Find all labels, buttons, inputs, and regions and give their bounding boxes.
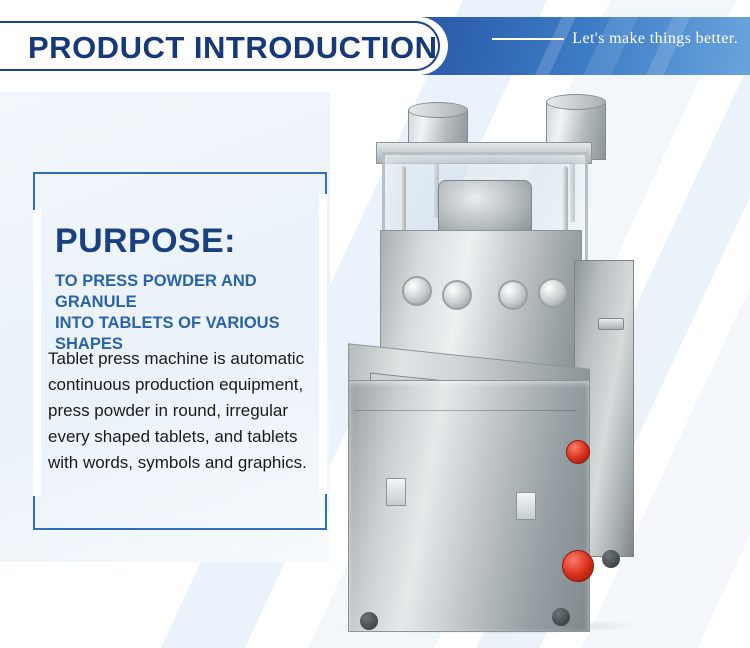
header: PRODUCT INTRODUCTION Let's make things b… bbox=[0, 0, 750, 92]
hopper-left-rim bbox=[408, 102, 468, 118]
gauge-1 bbox=[402, 276, 432, 306]
purpose-subheading: TO PRESS POWDER AND GRANULE INTO TABLETS… bbox=[55, 271, 323, 355]
red-valve-handle[interactable] bbox=[562, 550, 594, 582]
purpose-heading: PURPOSE: bbox=[55, 222, 236, 261]
base-panel-seam bbox=[354, 410, 576, 411]
slogan-dash-icon bbox=[492, 38, 564, 40]
gauge-3 bbox=[498, 280, 528, 310]
page-title: PRODUCT INTRODUCTION bbox=[28, 30, 438, 66]
cabinet-door-handle[interactable] bbox=[598, 318, 624, 330]
product-introduction-banner: PRODUCT INTRODUCTION Let's make things b… bbox=[0, 0, 750, 648]
hopper-right-rim bbox=[546, 94, 606, 110]
machine-base-cabinet bbox=[348, 380, 590, 632]
base-label-plate-left bbox=[386, 478, 406, 506]
caster-wheel-right bbox=[552, 608, 570, 626]
gauge-4 bbox=[538, 278, 568, 308]
header-slogan: Let's make things better. bbox=[572, 30, 738, 48]
purpose-subheading-line-1: TO PRESS POWDER AND GRANULE bbox=[55, 271, 323, 313]
caster-wheel-back bbox=[602, 550, 620, 568]
emergency-stop-knob[interactable] bbox=[566, 440, 590, 464]
purpose-body-text: Tablet press machine is automatic contin… bbox=[48, 346, 328, 476]
gauge-2 bbox=[442, 280, 472, 310]
header-slogan-group: Let's make things better. bbox=[492, 30, 738, 48]
caster-wheel-left bbox=[360, 612, 378, 630]
base-label-plate-right bbox=[516, 492, 536, 520]
product-photo bbox=[330, 80, 740, 620]
